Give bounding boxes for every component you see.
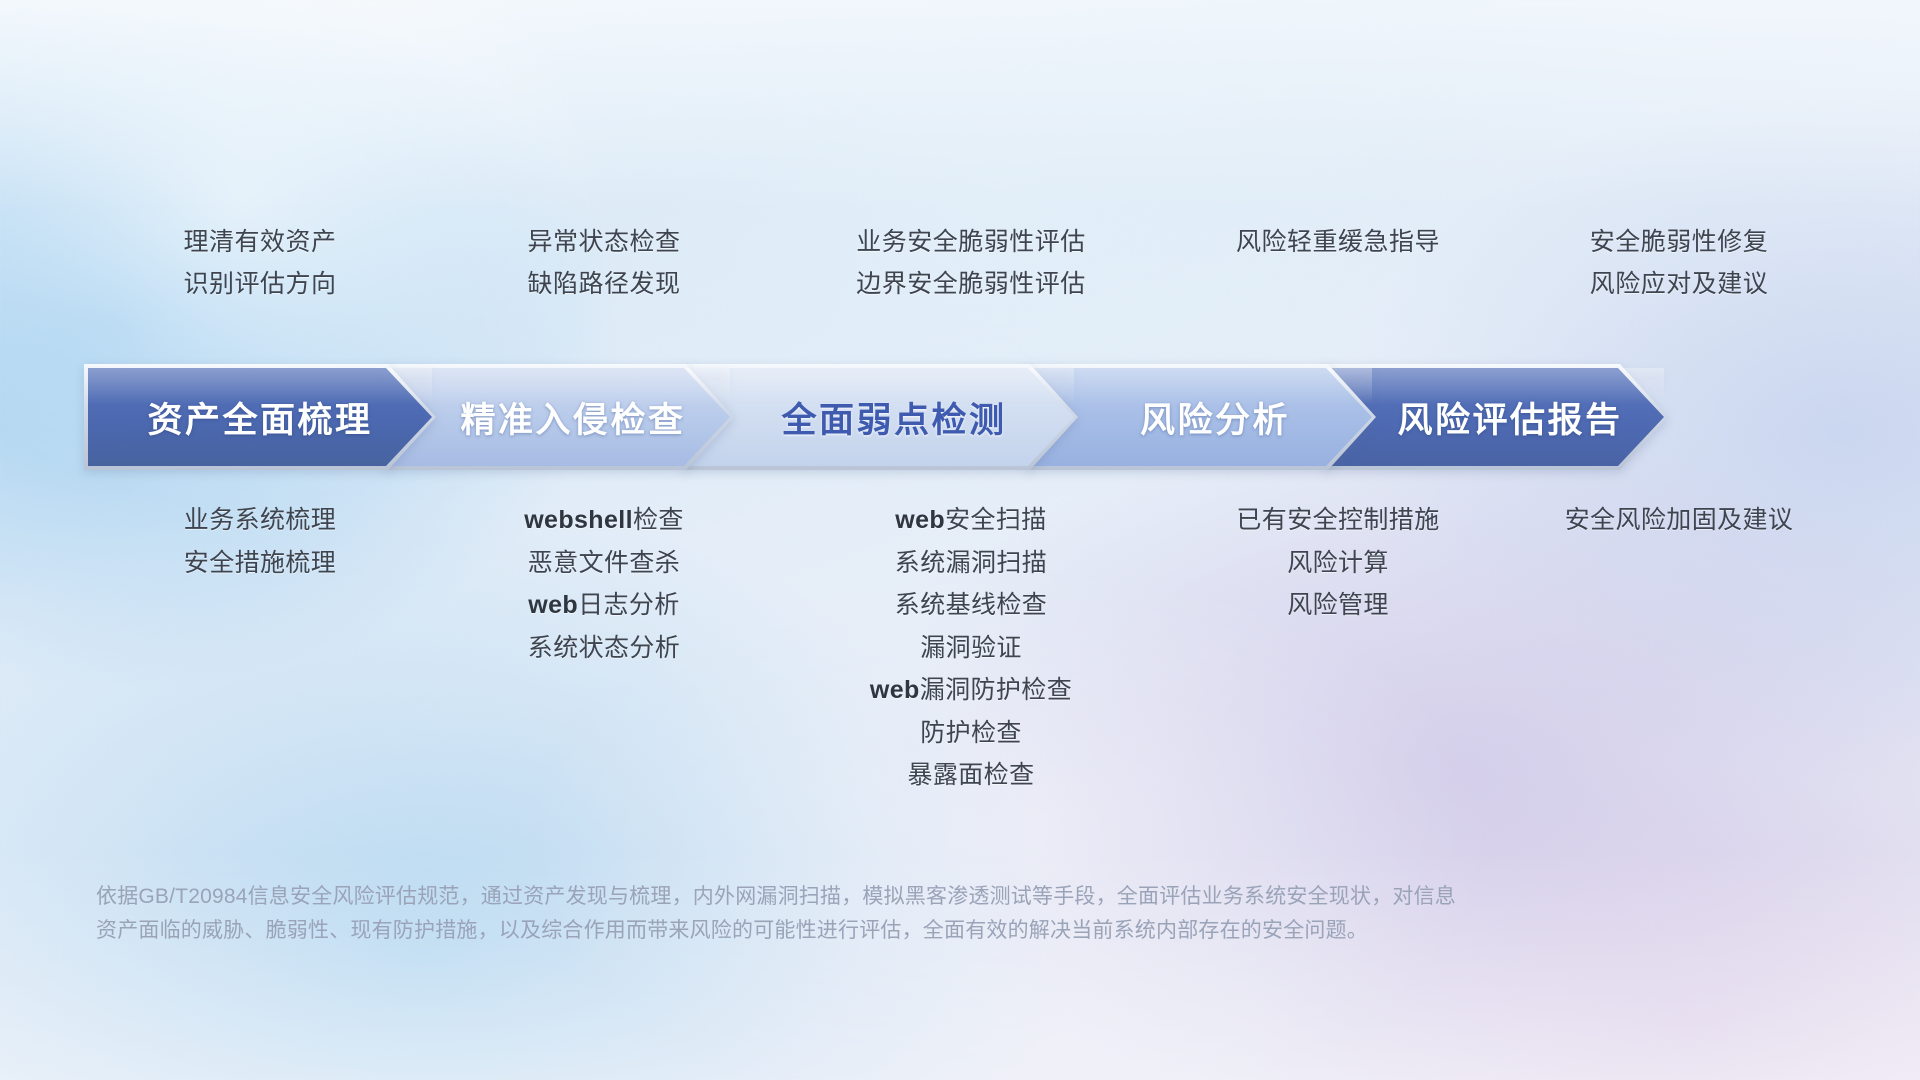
chevron-stage-asset-inventory[interactable]: 资产全面梳理 — [88, 368, 432, 466]
note-item: web漏洞防护检查 — [870, 676, 1072, 705]
note-item: 业务系统梳理 — [184, 506, 336, 535]
chevron-stage-weakness-detection[interactable]: 全面弱点检测 — [684, 368, 1074, 466]
note-bold-prefix: web — [528, 591, 578, 619]
note-item: 恶意文件查杀 — [528, 549, 680, 578]
top-notes-weakness-detection: 业务安全脆弱性评估边界安全脆弱性评估 — [776, 228, 1166, 338]
bottom-notes-intrusion-check: webshell检查恶意文件查杀web日志分析系统状态分析 — [432, 506, 776, 662]
note-item: 缺陷路径发现 — [527, 270, 680, 298]
footer-line-2: 资产面临的威胁、脆弱性、现有防护措施，以及综合作用而带来风险的可能性进行评估，全… — [96, 914, 1656, 948]
chevron-label-intrusion-check: 精准入侵检查 — [430, 392, 685, 443]
note-item: 业务安全脆弱性评估 — [856, 228, 1086, 256]
note-item: 安全风险加固及建议 — [1565, 506, 1794, 535]
note-item: 风险轻重缓急指导 — [1236, 228, 1440, 256]
bottom-notes-row: 业务系统梳理安全措施梳理webshell检查恶意文件查杀web日志分析系统状态分… — [0, 506, 1920, 790]
note-item: webshell检查 — [524, 506, 684, 535]
chevron-label-asset-inventory: 资产全面梳理 — [147, 392, 372, 443]
footer-line-1: 依据GB/T20984信息安全风险评估规范，通过资产发现与梳理，内外网漏洞扫描，… — [96, 880, 1656, 914]
process-diagram: 理清有效资产识别评估方向异常状态检查缺陷路径发现业务安全脆弱性评估边界安全脆弱性… — [0, 0, 1920, 1080]
chevron-stage-risk-report[interactable]: 风险评估报告 — [1326, 368, 1664, 466]
note-item: 系统状态分析 — [528, 634, 680, 663]
note-item: 识别评估方向 — [183, 270, 336, 298]
note-item: 防护检查 — [920, 719, 1022, 748]
note-item: 风险计算 — [1287, 549, 1389, 578]
bottom-notes-risk-analysis: 已有安全控制措施风险计算风险管理 — [1166, 506, 1510, 620]
bottom-notes-risk-report: 安全风险加固及建议 — [1510, 506, 1848, 535]
note-item: 系统基线检查 — [895, 591, 1047, 620]
note-item: 理清有效资产 — [183, 228, 336, 256]
note-item: 安全脆弱性修复 — [1590, 228, 1769, 256]
note-item: 漏洞验证 — [920, 634, 1022, 663]
note-item: 暴露面检查 — [907, 761, 1034, 790]
top-notes-risk-analysis: 风险轻重缓急指导 — [1166, 228, 1510, 338]
note-item: 系统漏洞扫描 — [895, 549, 1047, 578]
note-bold-prefix: web — [895, 506, 945, 534]
top-notes-risk-report: 安全脆弱性修复风险应对及建议 — [1510, 228, 1848, 338]
note-item: 安全措施梳理 — [184, 549, 336, 578]
note-item: 风险管理 — [1287, 591, 1389, 620]
bottom-notes-asset-inventory: 业务系统梳理安全措施梳理 — [88, 506, 432, 577]
top-notes-row: 理清有效资产识别评估方向异常状态检查缺陷路径发现业务安全脆弱性评估边界安全脆弱性… — [0, 228, 1920, 338]
top-notes-asset-inventory: 理清有效资产识别评估方向 — [88, 228, 432, 338]
chevron-stage-intrusion-check[interactable]: 精准入侵检查 — [386, 368, 730, 466]
note-text: 安全扫描 — [945, 506, 1047, 534]
note-bold-prefix: webshell — [524, 506, 633, 534]
note-bold-prefix: web — [870, 676, 920, 704]
chevron-band: 资产全面梳理精准入侵检查全面弱点检测风险分析风险评估报告 — [88, 368, 1848, 466]
chevron-label-risk-analysis: 风险分析 — [1110, 392, 1290, 443]
note-item: 风险应对及建议 — [1590, 270, 1769, 298]
note-text: 日志分析 — [578, 591, 680, 619]
note-item: web日志分析 — [528, 591, 679, 620]
top-notes-intrusion-check: 异常状态检查缺陷路径发现 — [432, 228, 776, 338]
note-item: 边界安全脆弱性评估 — [856, 270, 1086, 298]
note-item: 已有安全控制措施 — [1236, 506, 1439, 535]
chevron-stage-risk-analysis[interactable]: 风险分析 — [1028, 368, 1372, 466]
note-text: 检查 — [633, 506, 684, 534]
note-item: web安全扫描 — [895, 506, 1046, 535]
chevron-label-risk-report: 风险评估报告 — [1367, 392, 1622, 443]
chevron-label-weakness-detection: 全面弱点检测 — [751, 392, 1006, 443]
footer-description: 依据GB/T20984信息安全风险评估规范，通过资产发现与梳理，内外网漏洞扫描，… — [96, 880, 1656, 948]
bottom-notes-weakness-detection: web安全扫描系统漏洞扫描系统基线检查漏洞验证web漏洞防护检查防护检查暴露面检… — [776, 506, 1166, 790]
note-text: 漏洞防护检查 — [920, 676, 1072, 704]
note-item: 异常状态检查 — [527, 228, 680, 256]
